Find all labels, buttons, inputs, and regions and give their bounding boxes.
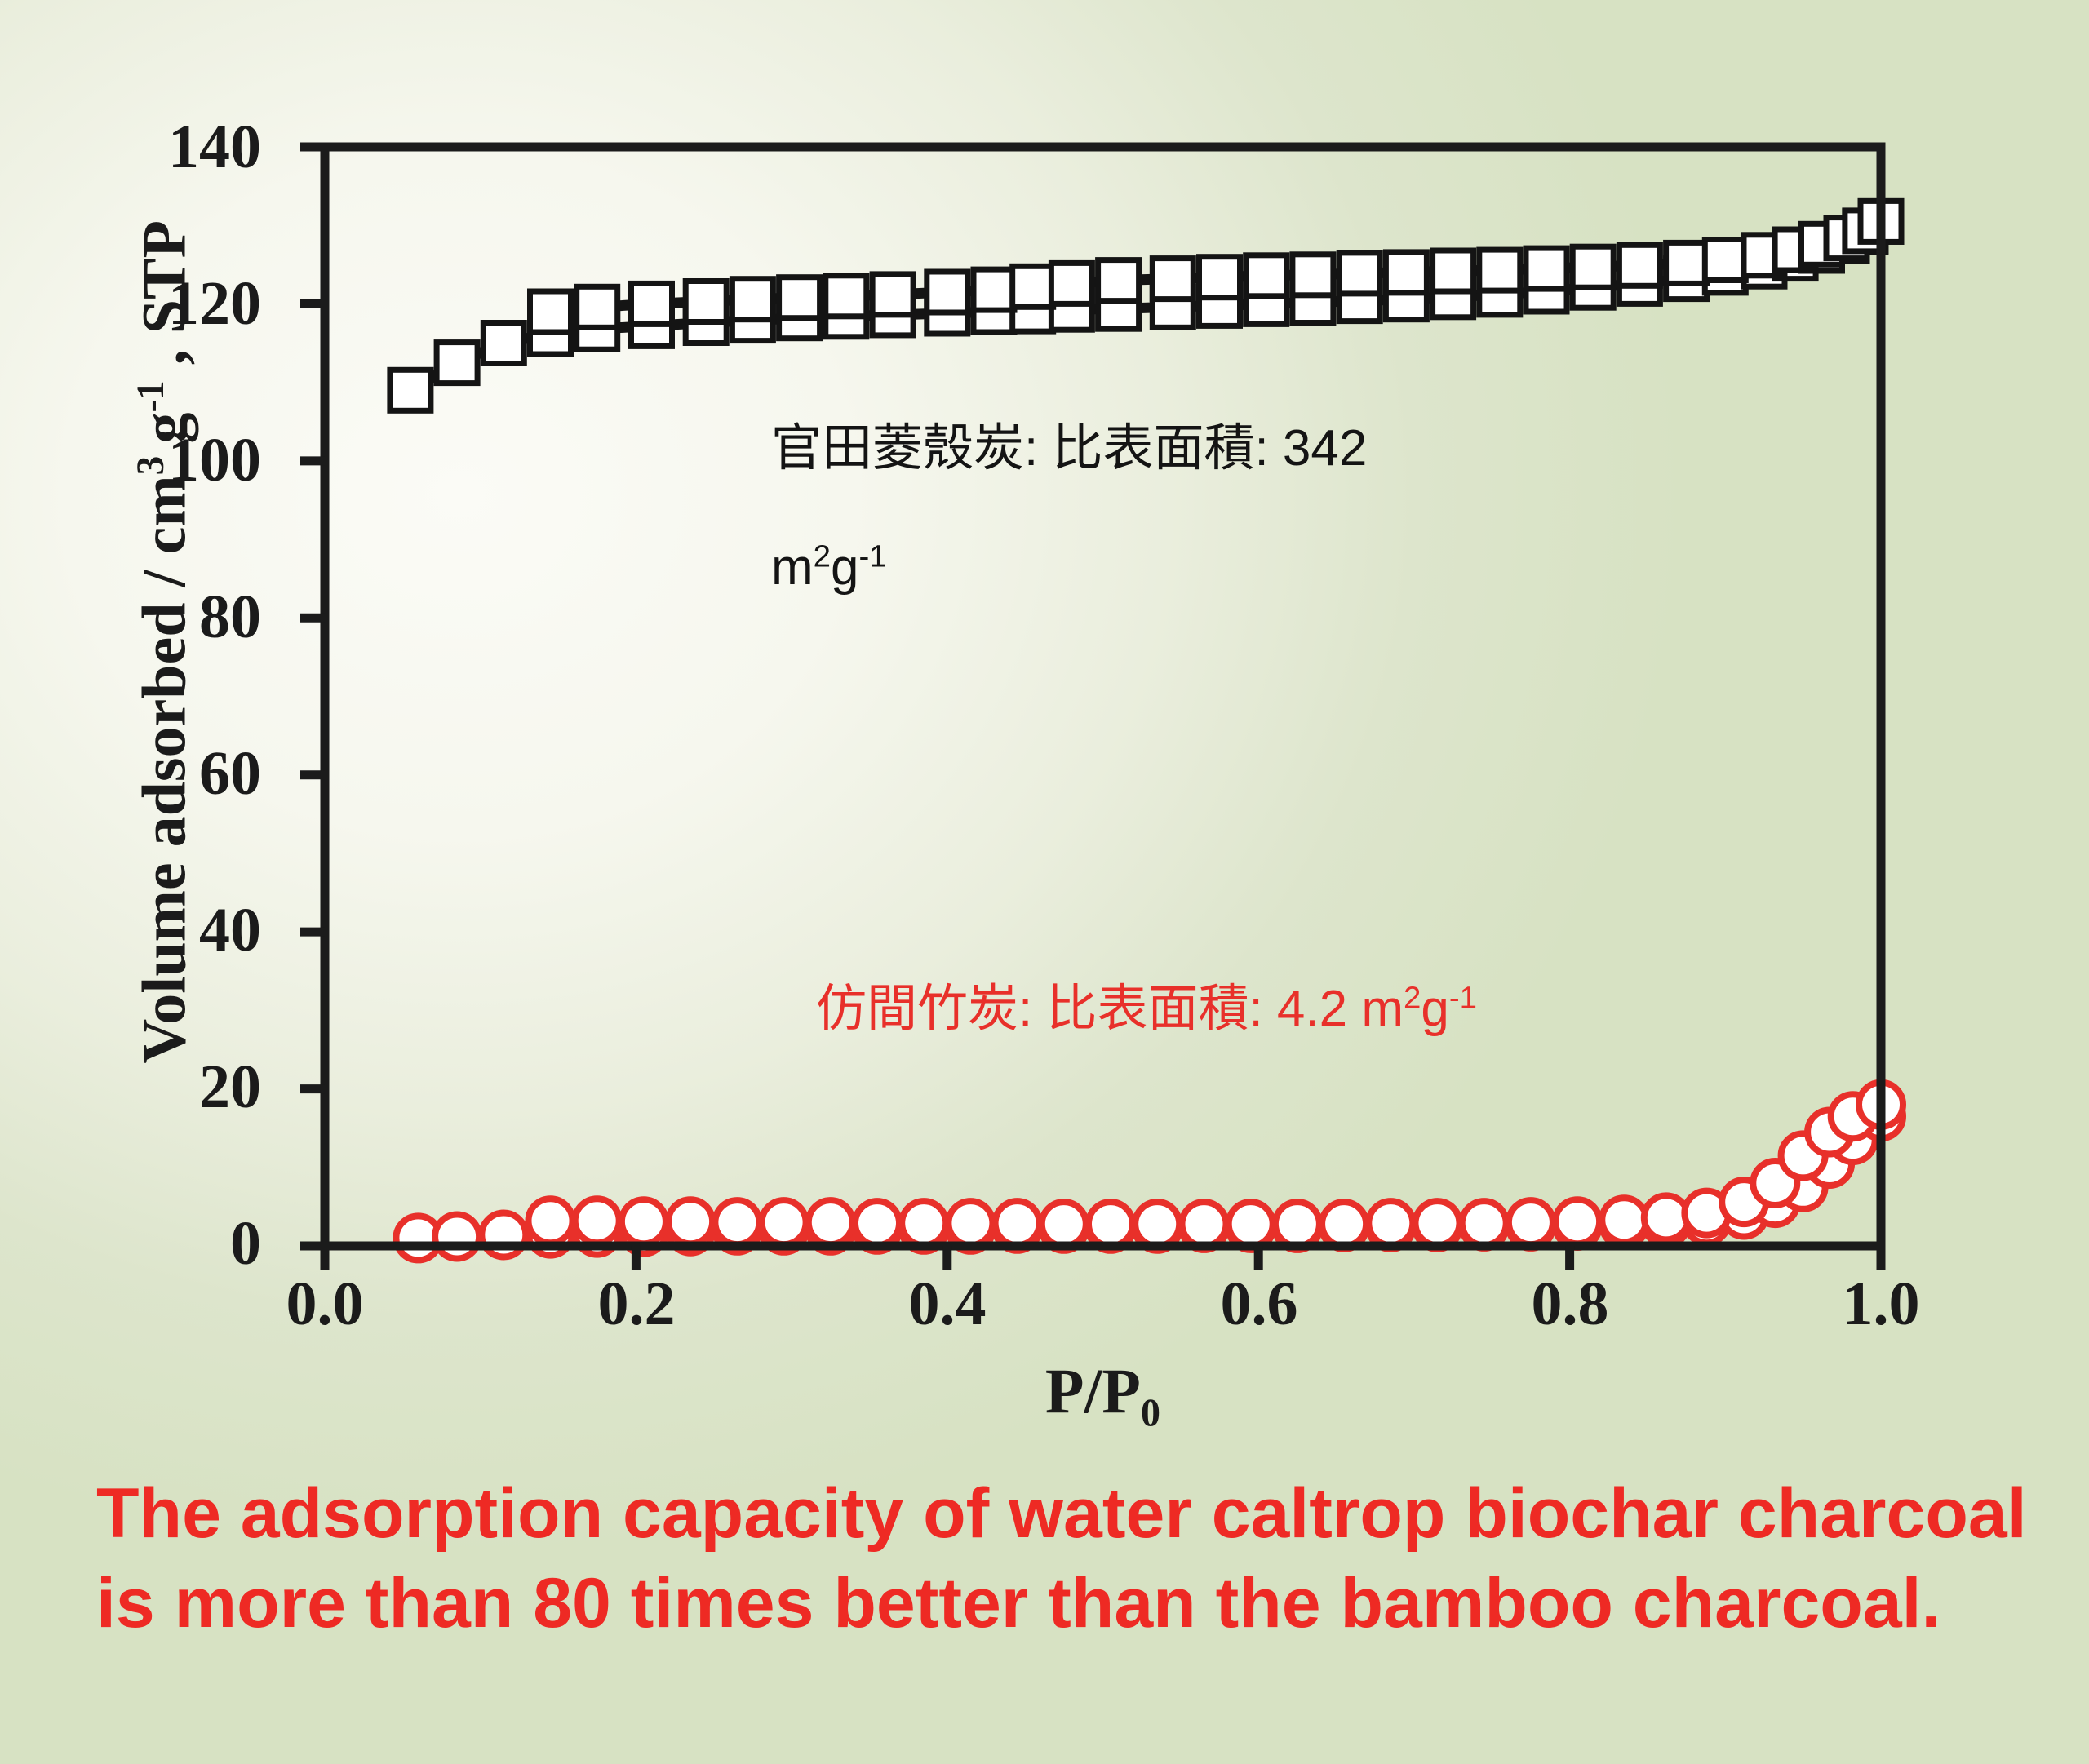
figure-caption: The adsorption capacity of water caltrop…: [96, 1469, 2055, 1648]
data-point-circle: [1042, 1202, 1086, 1246]
data-point-square: [437, 343, 477, 383]
data-point-circle: [809, 1200, 853, 1244]
red-annotation-text: 仿間竹炭: 比表面積: 4.2 m: [816, 981, 1404, 1037]
data-point-circle: [529, 1199, 573, 1243]
data-point-square: [483, 323, 524, 364]
data-point-square: [1572, 246, 1613, 287]
data-point-circle: [575, 1199, 619, 1243]
data-point-square: [779, 277, 820, 318]
data-point-circle: [1416, 1201, 1460, 1245]
data-point-square: [1705, 240, 1745, 281]
data-point-square: [1386, 252, 1426, 293]
data-point-circle: [1135, 1202, 1179, 1246]
data-point-circle: [1089, 1202, 1133, 1246]
data-point-circle: [1368, 1201, 1413, 1245]
series-markers-commercial-bamboo-charcoal-desorption: [529, 1083, 1904, 1246]
data-point-square: [1433, 250, 1474, 291]
data-point-square: [927, 272, 968, 312]
red-series-annotation: 仿間竹炭: 比表面積: 4.2 m2g-1: [816, 979, 1477, 1039]
black-series-annotation: 官田菱殼炭: 比表面積: 342 m2g-1: [771, 359, 1367, 598]
data-point-circle: [1644, 1195, 1688, 1239]
black-annotation-line1: 官田菱殼炭: 比表面積: 342: [771, 420, 1367, 476]
data-point-square: [577, 286, 618, 327]
chart-figure: Volume adsorbed / cm3 g-1 , STP P/P0 140…: [0, 0, 2089, 1764]
black-annotation-line2: m2g-1: [771, 539, 887, 596]
data-point-square: [974, 269, 1014, 310]
data-point-circle: [622, 1199, 666, 1243]
data-point-circle: [1275, 1202, 1319, 1246]
data-point-square: [1051, 263, 1092, 304]
data-point-circle: [1555, 1199, 1599, 1243]
data-point-circle: [715, 1200, 759, 1244]
data-point-circle: [855, 1201, 899, 1245]
data-point-square: [1200, 257, 1240, 298]
data-point-square: [685, 281, 726, 322]
data-point-square: [872, 274, 913, 315]
data-point-circle: [1509, 1200, 1553, 1244]
data-point-square: [1526, 248, 1567, 289]
data-point-circle: [1229, 1202, 1273, 1246]
data-point-square: [632, 283, 672, 324]
data-point-circle: [1182, 1202, 1226, 1246]
data-point-square: [1098, 260, 1139, 301]
data-point-square: [530, 291, 571, 332]
data-point-square: [1666, 242, 1707, 283]
data-point-circle: [902, 1201, 946, 1245]
data-point-circle: [948, 1201, 992, 1245]
data-point-square: [1246, 255, 1287, 296]
data-point-square: [1293, 255, 1333, 295]
data-point-circle: [435, 1215, 479, 1259]
data-point-circle: [1462, 1201, 1506, 1245]
data-point-square: [826, 276, 867, 317]
data-point-circle: [1602, 1198, 1646, 1242]
data-point-circle: [996, 1201, 1040, 1245]
data-point-square: [1619, 245, 1660, 286]
data-point-circle: [762, 1200, 806, 1244]
data-point-circle: [668, 1199, 712, 1243]
data-point-square: [1013, 266, 1053, 307]
data-point-square: [1479, 250, 1520, 290]
data-point-square: [1339, 253, 1380, 294]
data-point-square: [390, 370, 431, 410]
data-point-square: [732, 279, 773, 320]
data-point-circle: [1322, 1202, 1366, 1246]
data-point-square: [1152, 259, 1193, 299]
